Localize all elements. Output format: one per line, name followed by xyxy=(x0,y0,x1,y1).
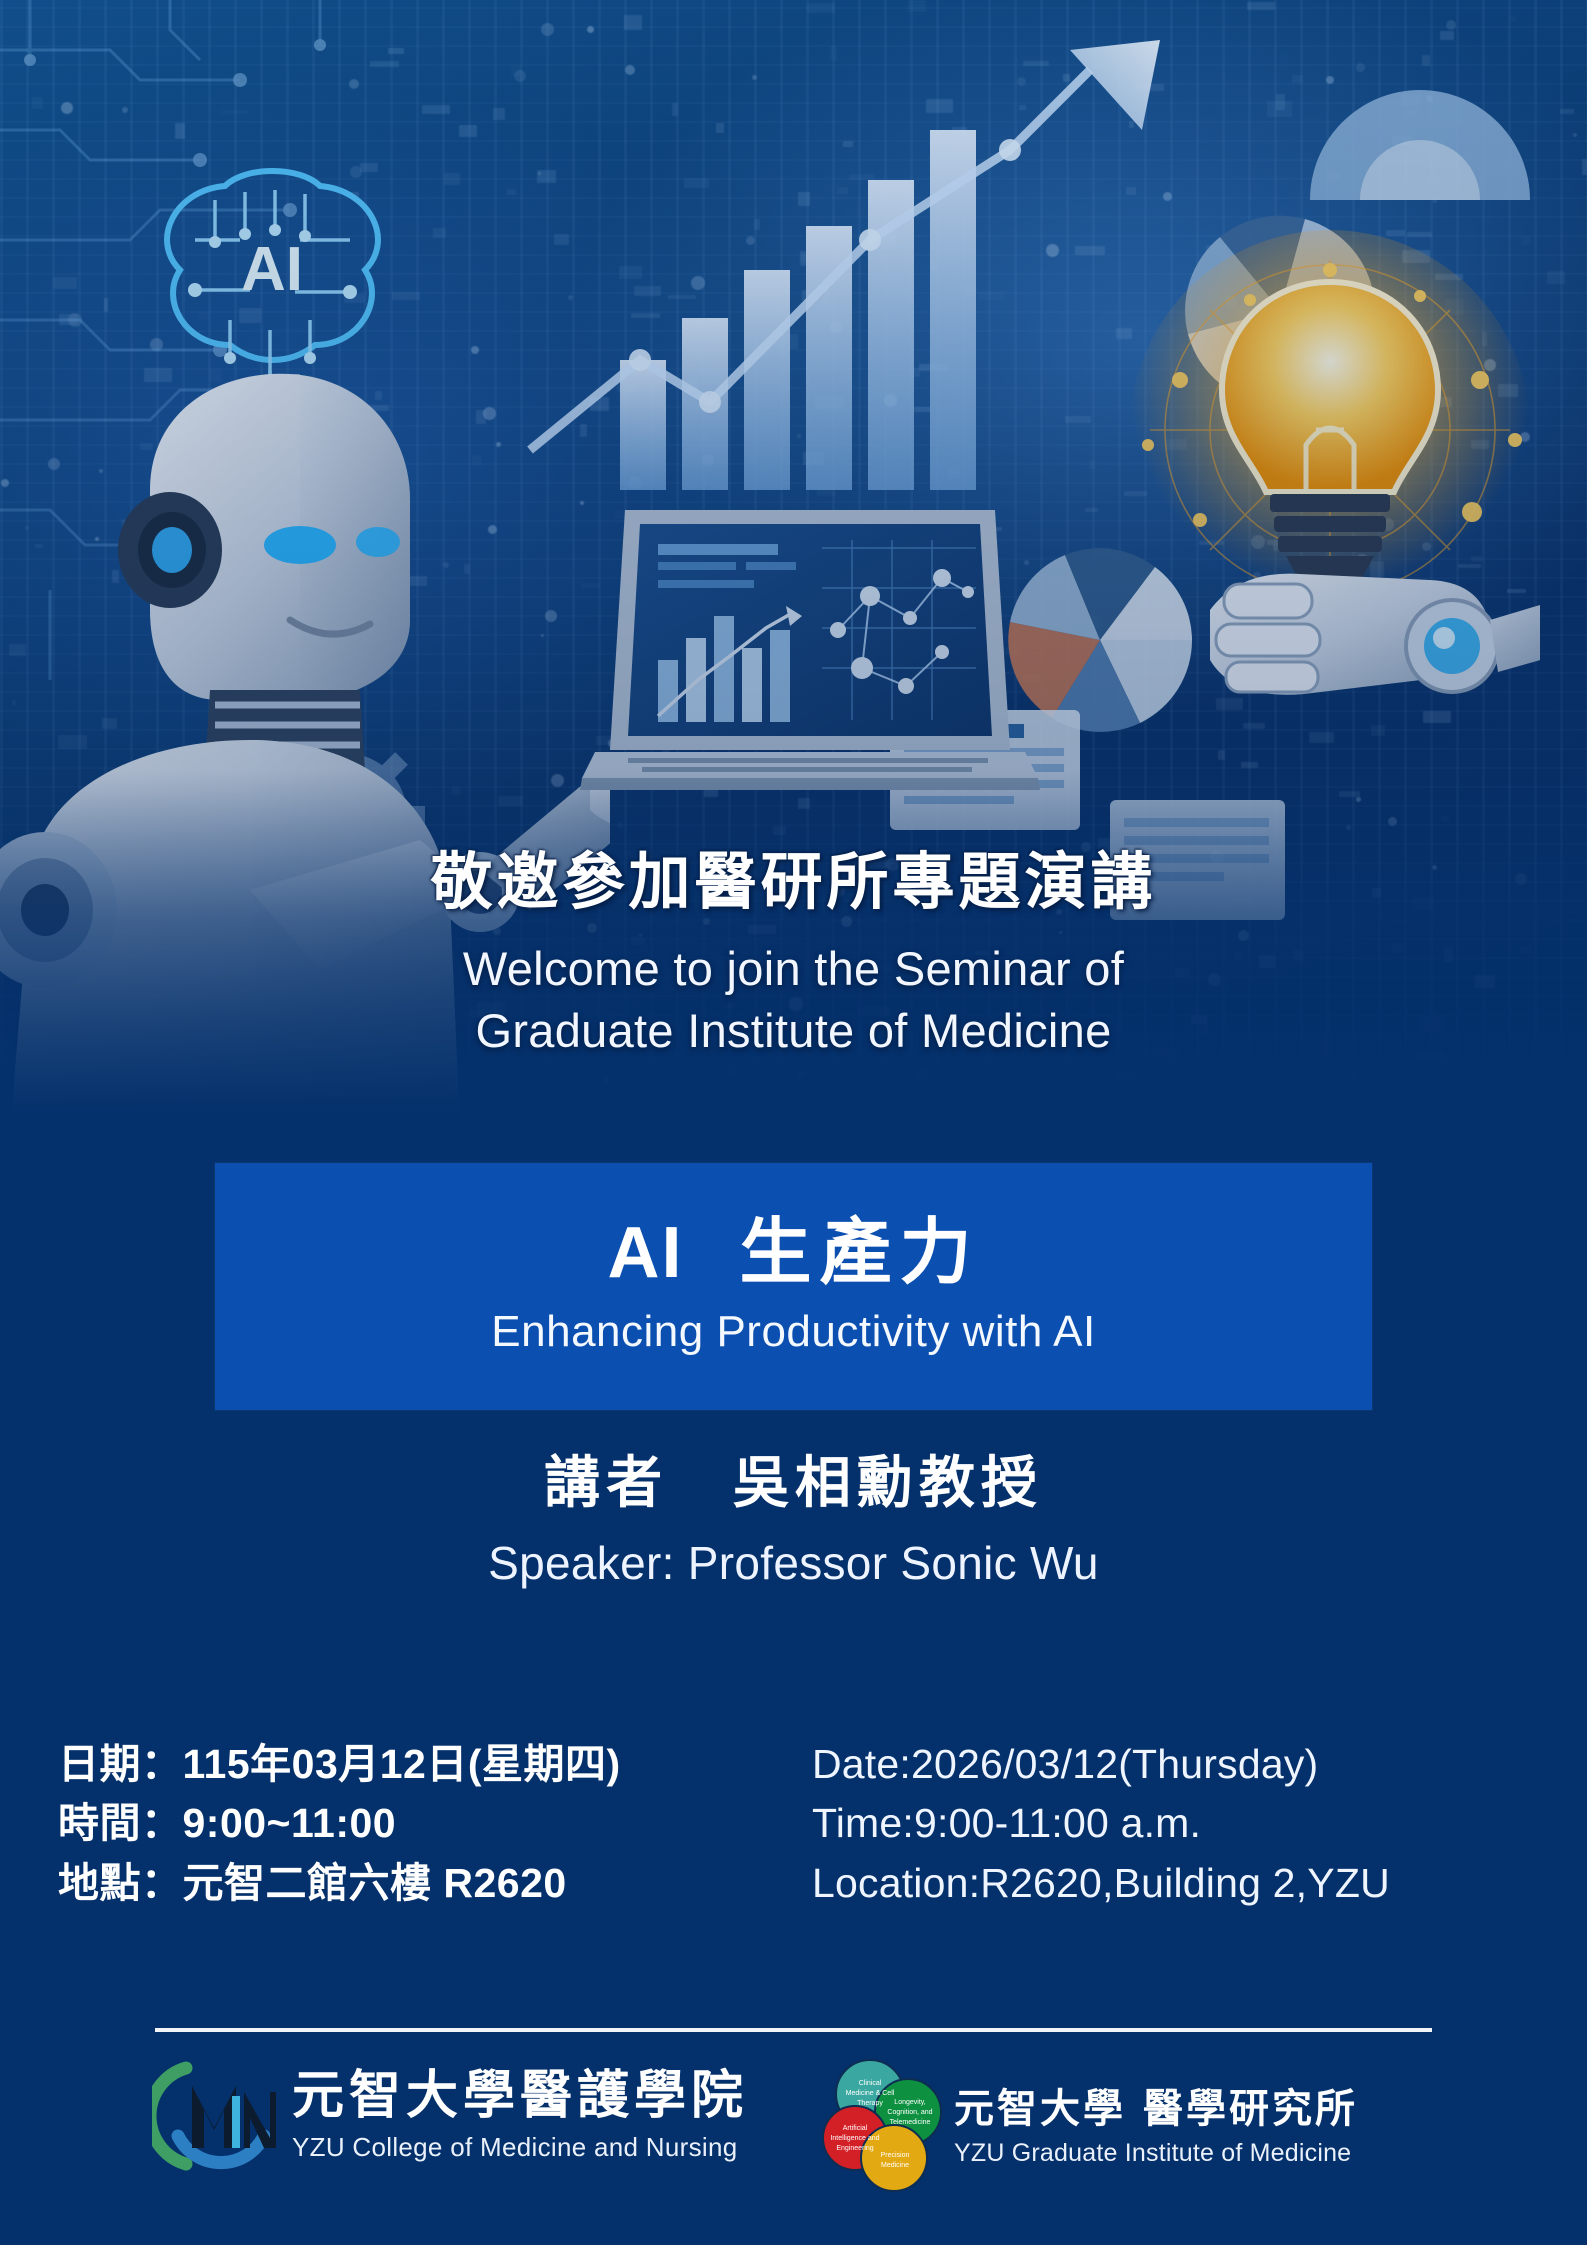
college-name-chinese: 元智大學醫護學院 xyxy=(292,2069,748,2124)
detail-location-english: Location:R2620,Building 2,YZU xyxy=(812,1854,1587,1913)
detail-time-english: Time:9:00-11:00 a.m. xyxy=(812,1794,1587,1853)
venn-label-precision-line-2: Medicine xyxy=(881,2162,909,2169)
event-details: 日期：115年03月12日(星期四) 時間：9:00~11:00 地點：元智二館… xyxy=(0,1735,1587,1913)
venn-diagram-icon: Clinical Medicine & Cell Therapy Longevi… xyxy=(822,2054,944,2204)
headline-english-line-1: Welcome to join the Seminar of xyxy=(0,938,1587,1000)
institute-logo-text: 元智大學 醫學研究所 YZU Graduate Institute of Med… xyxy=(954,2088,1358,2168)
venn-label-ai-line-3: Engineering xyxy=(836,2145,873,2152)
detail-time-chinese: 時間：9:00~11:00 xyxy=(58,1794,790,1853)
venn-label-longevity-line-3: Telemedicine xyxy=(890,2119,931,2126)
headline-english: Welcome to join the Seminar of Graduate … xyxy=(0,938,1587,1062)
headline-chinese: 敬邀參加醫研所專題演講 xyxy=(0,852,1587,914)
details-chinese-column: 日期：115年03月12日(星期四) 時間：9:00~11:00 地點：元智二館… xyxy=(0,1735,790,1913)
banner-title: AI 生產力 xyxy=(607,1216,979,1292)
detail-date-chinese: 日期：115年03月12日(星期四) xyxy=(58,1735,790,1794)
headline-english-line-2: Graduate Institute of Medicine xyxy=(0,1000,1587,1062)
venn-label-clinical-line-3: Therapy xyxy=(857,2100,883,2107)
venn-label-ai-line-1: Artificial xyxy=(843,2125,868,2132)
college-name-english: YZU College of Medicine and Nursing xyxy=(292,2132,748,2163)
institute-name-english: YZU Graduate Institute of Medicine xyxy=(954,2139,1358,2168)
speaker-english: Speaker: Professor Sonic Wu xyxy=(0,1536,1587,1590)
speaker-name-chinese: 吳相勳教授 xyxy=(733,1451,1043,1514)
speaker-chinese: 講者 吳相勳教授 xyxy=(0,1452,1587,1514)
college-logo-text: 元智大學醫護學院 YZU College of Medicine and Nur… xyxy=(292,2069,748,2163)
college-logo: 元智大學醫護學院 YZU College of Medicine and Nur… xyxy=(152,2052,748,2180)
speaker-label-chinese: 講者 xyxy=(544,1451,668,1514)
mn-monogram-icon xyxy=(152,2052,276,2180)
banner-title-chinese: 生產力 xyxy=(740,1213,980,1293)
banner-subtitle: Enhancing Productivity with AI xyxy=(491,1307,1095,1357)
banner-title-latin: AI xyxy=(607,1213,683,1293)
seminar-poster: AI xyxy=(0,0,1587,2245)
institute-name-chinese: 元智大學 醫學研究所 xyxy=(954,2088,1358,2130)
venn-label-ai-line-2: Intelligence and xyxy=(830,2135,879,2142)
details-english-column: Date:2026/03/12(Thursday) Time:9:00-11:0… xyxy=(790,1735,1587,1913)
footer-logos: 元智大學醫護學院 YZU College of Medicine and Nur… xyxy=(0,2052,1587,2232)
detail-date-english: Date:2026/03/12(Thursday) xyxy=(812,1735,1587,1794)
footer-divider xyxy=(155,2028,1432,2032)
venn-label-precision-line-1: Precision xyxy=(881,2152,910,2159)
venn-label-longevity-line-2: Cognition, and xyxy=(887,2109,932,2116)
venn-label-clinical-line-1: Clinical xyxy=(859,2080,882,2087)
institute-logo: Clinical Medicine & Cell Therapy Longevi… xyxy=(822,2052,1358,2204)
speaker-block: 講者 吳相勳教授 Speaker: Professor Sonic Wu xyxy=(0,1452,1587,1590)
title-banner: AI 生產力 Enhancing Productivity with AI xyxy=(215,1163,1372,1410)
venn-label-clinical-line-2: Medicine & Cell xyxy=(846,2090,895,2097)
venn-label-longevity-line-1: Longevity, xyxy=(894,2099,925,2106)
headline-block: 敬邀參加醫研所專題演講 Welcome to join the Seminar … xyxy=(0,852,1587,1062)
detail-location-chinese: 地點：元智二館六樓 R2620 xyxy=(58,1854,790,1913)
